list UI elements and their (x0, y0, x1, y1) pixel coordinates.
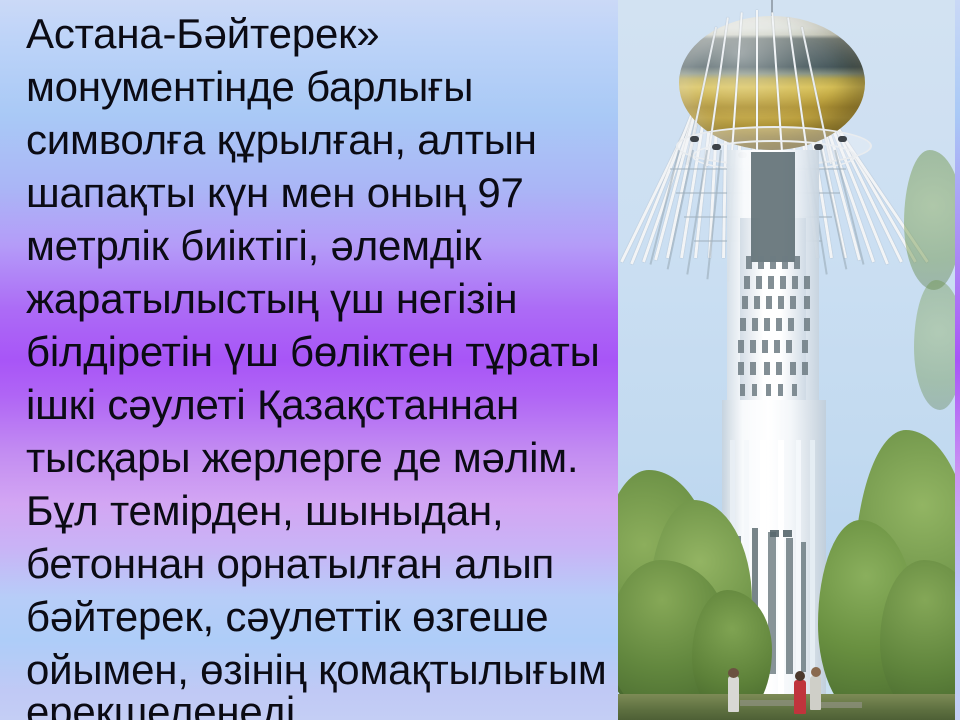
bayterek-tower-photo (618, 0, 960, 720)
person (810, 676, 821, 710)
text-line: тысқары жерлерге де мәлім. (26, 436, 578, 480)
text-line: ойымен, өзінің қомақтылығым (26, 648, 607, 692)
text-line: метрлік биіктігі, әлемдік (26, 224, 481, 268)
text-line: символға құрылған, алтын (26, 118, 537, 162)
plaza-ground (618, 694, 955, 720)
text-line: Бұл темірден, шыныдан, (26, 489, 503, 533)
presentation-slide: Астана-Бәйтерек» монументінде барлығы си… (0, 0, 960, 720)
person (728, 676, 739, 712)
person-head (795, 671, 805, 681)
photo-right-edge-strip (955, 0, 960, 720)
text-line: жаратылыстың үш негізін (26, 277, 517, 321)
text-line: ішкі сәулеті Қазақстаннан (26, 383, 519, 427)
text-line: монументінде барлығы (26, 65, 473, 109)
text-line: Астана-Бәйтерек» (26, 12, 379, 56)
person-head (728, 668, 739, 678)
person-head (811, 667, 821, 677)
crown-node (690, 136, 699, 142)
text-line: шапақты күн мен оның 97 (26, 171, 524, 215)
text-line: бетоннан орнатылған алып (26, 542, 554, 586)
text-line: білдіретін үш бөліктен тұраты (26, 330, 600, 374)
crown-node (838, 136, 847, 142)
slide-body-text: Астана-Бәйтерек» монументінде барлығы си… (0, 0, 618, 720)
person (794, 680, 806, 714)
text-line: ерекшеленеді. (26, 690, 307, 720)
text-line: бәйтерек, сәулеттік өзгеше (26, 595, 548, 639)
shaft-glass-core (751, 152, 795, 262)
photo-content (618, 0, 955, 720)
bench (814, 702, 862, 708)
